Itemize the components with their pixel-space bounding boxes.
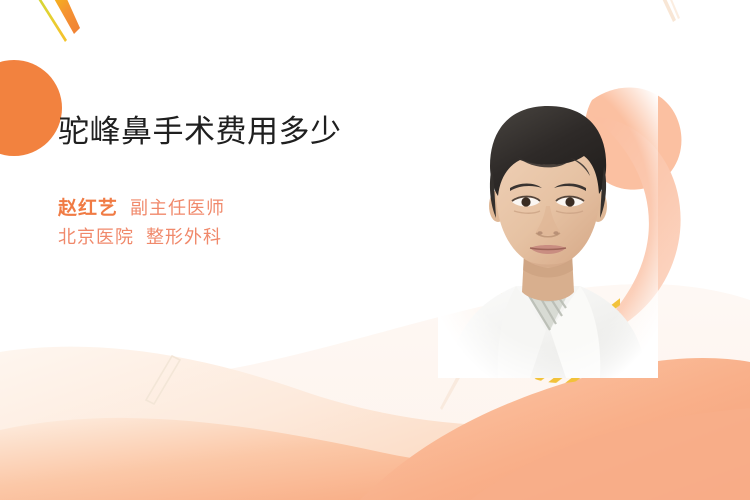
text-block: 驼峰鼻手术费用多少 赵红艺副主任医师 北京医院整形外科 bbox=[58, 112, 428, 252]
doctor-byline: 赵红艺副主任医师 北京医院整形外科 bbox=[58, 194, 428, 251]
doctor-portrait bbox=[438, 78, 658, 378]
byline-row-affiliation: 北京医院整形外科 bbox=[58, 224, 428, 252]
faint-parallelogram-icon bbox=[128, 352, 208, 412]
doctor-title: 副主任医师 bbox=[130, 198, 225, 218]
doctor-department: 整形外科 bbox=[146, 227, 222, 247]
doctor-hospital: 北京医院 bbox=[58, 227, 134, 247]
page-title: 驼峰鼻手术费用多少 bbox=[58, 112, 398, 152]
doctor-name: 赵红艺 bbox=[58, 198, 118, 219]
doctor-info-card: 驼峰鼻手术费用多少 赵红艺副主任医师 北京医院整形外科 bbox=[0, 0, 750, 500]
faint-streak-icon bbox=[640, 0, 700, 50]
byline-row-name: 赵红艺副主任医师 bbox=[58, 194, 428, 223]
ribbon-streak-icon bbox=[0, 0, 130, 78]
